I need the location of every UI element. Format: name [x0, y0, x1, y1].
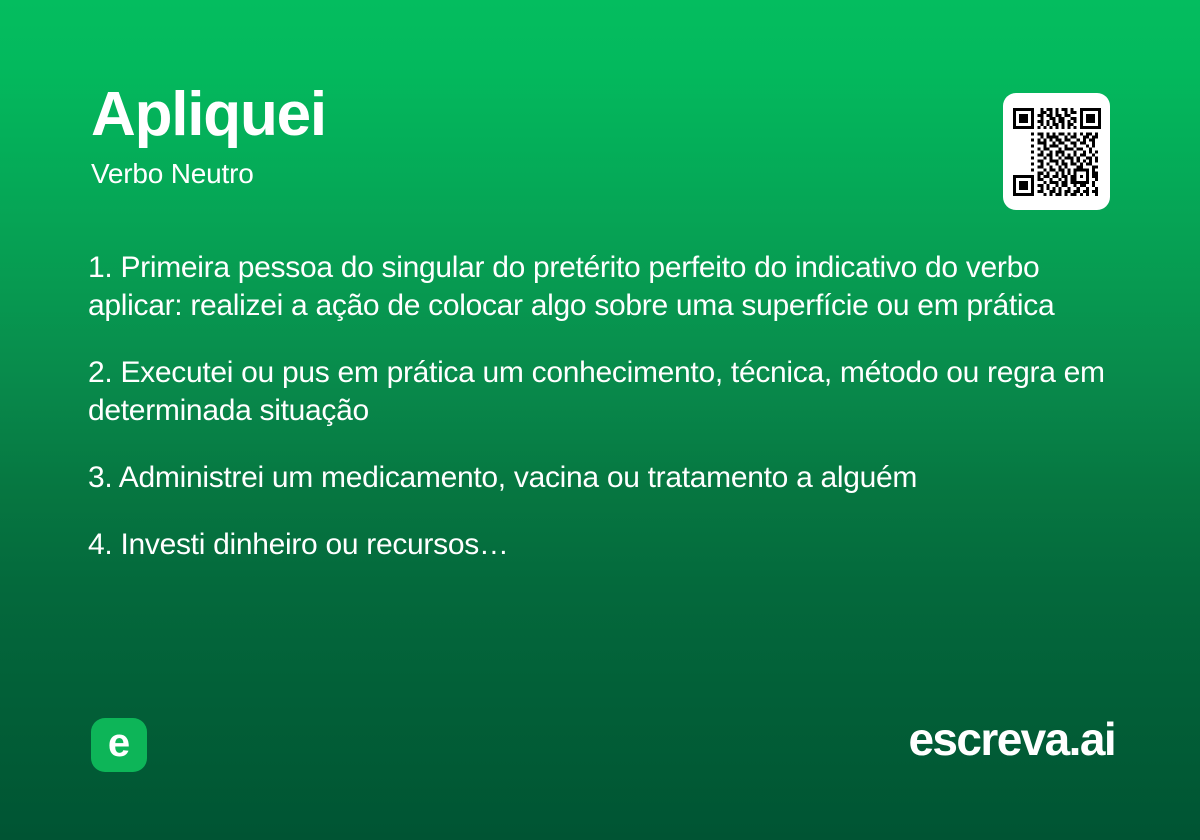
definition-item-3: 3. Administrei um medicamento, vacina ou…: [88, 459, 1108, 497]
definition-card: Apliquei Verbo Neutro: [0, 0, 1200, 840]
qr-code-container[interactable]: [1003, 93, 1110, 210]
qr-code-icon: [1013, 108, 1101, 196]
logo-letter-e: e: [108, 723, 130, 763]
card-footer: e escreva.ai: [0, 710, 1200, 840]
definition-item-4: 4. Investi dinheiro ou recursos…: [88, 526, 1108, 564]
definition-item-2: 2. Executei ou pus em prática um conheci…: [88, 354, 1108, 430]
word-class-subtitle: Verbo Neutro: [91, 160, 951, 188]
page-title: Apliquei: [91, 84, 951, 146]
definition-item-1: 1. Primeira pessoa do singular do pretér…: [88, 249, 1108, 325]
card-header: Apliquei Verbo Neutro: [91, 84, 951, 188]
escreva-logo-badge: e: [91, 718, 147, 772]
brand-wordmark: escreva.ai: [908, 716, 1115, 762]
definition-list: 1. Primeira pessoa do singular do pretér…: [88, 249, 1108, 564]
